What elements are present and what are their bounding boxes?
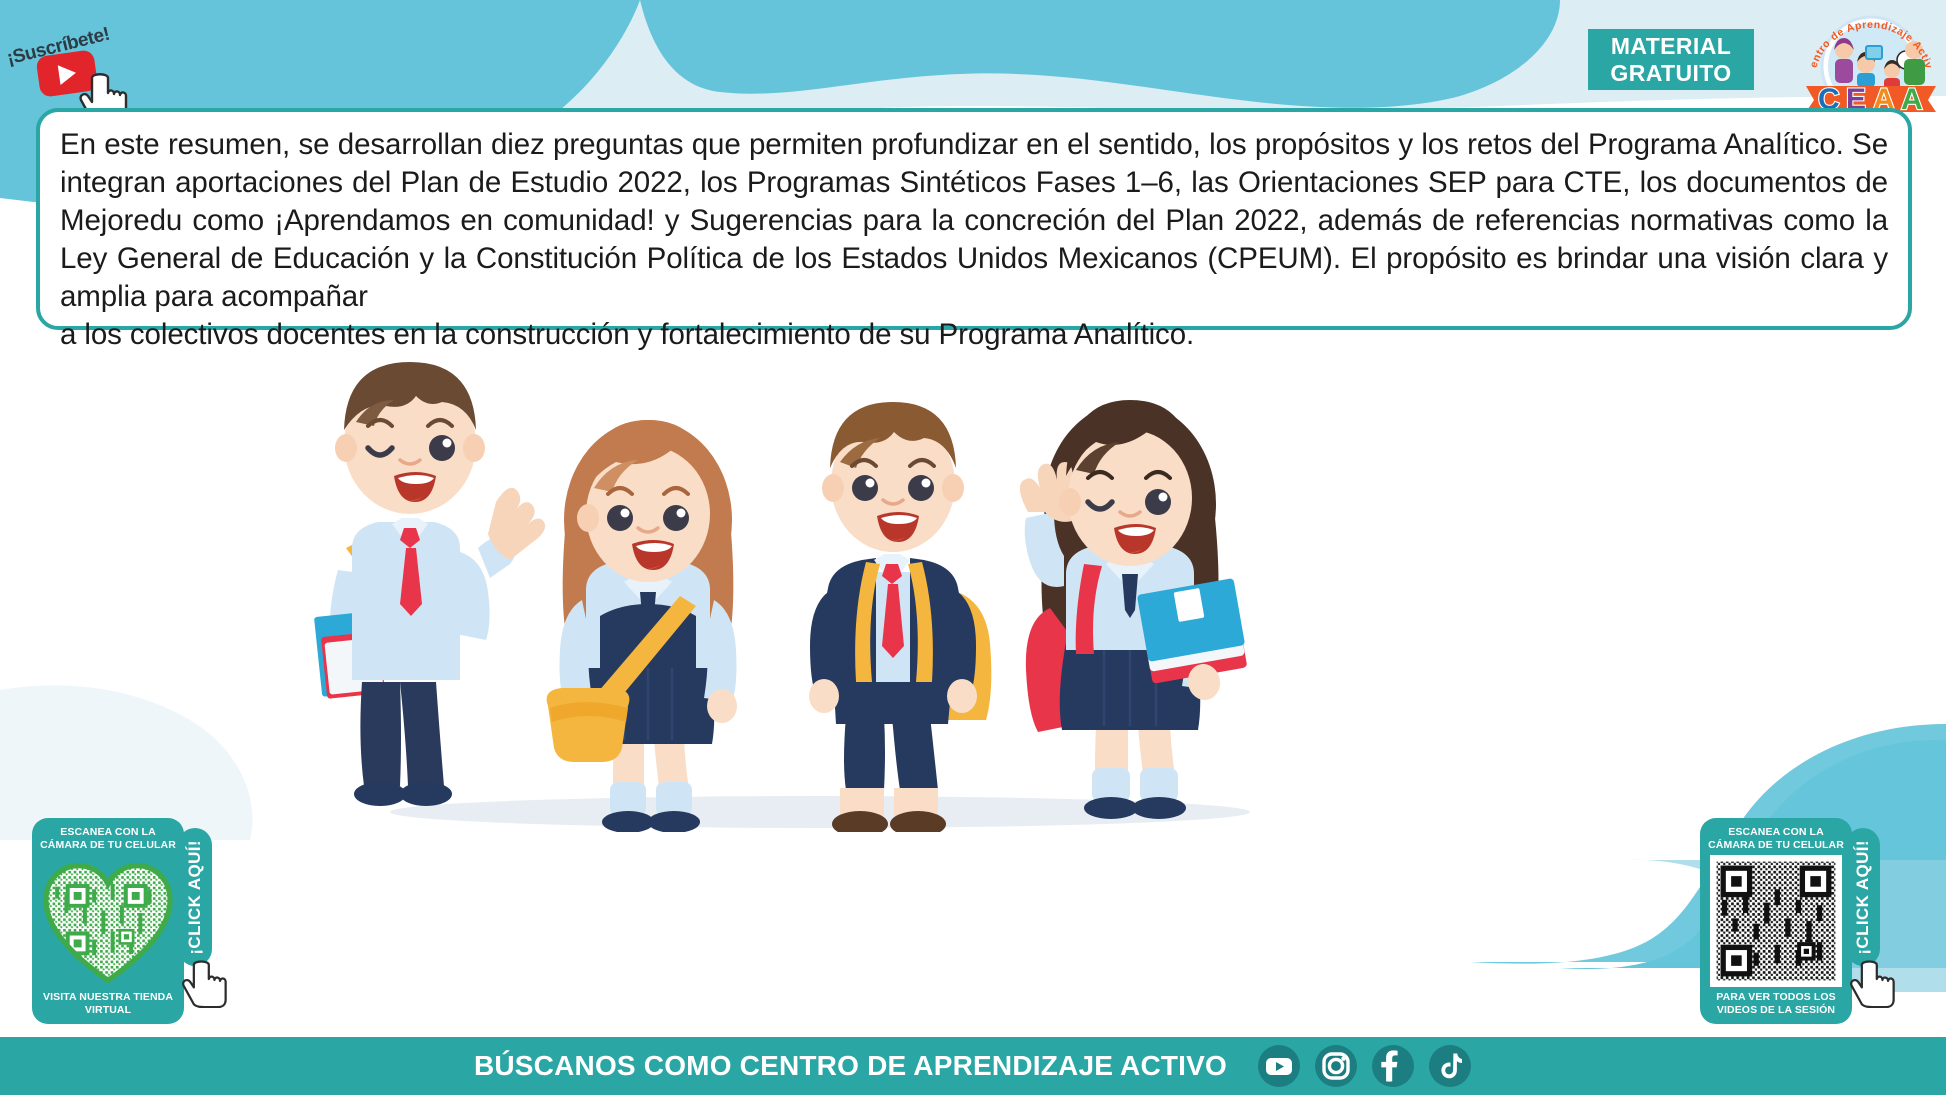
qr-left-footer: VISITA NUESTRA TIENDA VIRTUAL bbox=[43, 991, 173, 1016]
material-badge-line2: GRATUITO bbox=[1610, 60, 1731, 87]
click-here-tab-right[interactable]: ¡CLICK AQUÍ! bbox=[1846, 828, 1880, 966]
qr-right-footer-line1: PARA VER TODOS LOS bbox=[1716, 991, 1835, 1003]
tiktok-icon[interactable] bbox=[1428, 1044, 1472, 1088]
summary-text-card: En este resumen, se desarrollan diez pre… bbox=[36, 108, 1912, 330]
student-girl-waving bbox=[1020, 400, 1248, 819]
material-badge-line1: MATERIAL bbox=[1611, 33, 1731, 60]
students-graphic bbox=[300, 352, 1340, 832]
facebook-icon[interactable] bbox=[1371, 1044, 1415, 1088]
summary-paragraph-last: a los colectivos docentes en la construc… bbox=[60, 316, 1888, 354]
instagram-icon[interactable] bbox=[1314, 1044, 1358, 1088]
social-links bbox=[1257, 1044, 1472, 1088]
student-girl-pinafore bbox=[547, 420, 737, 832]
poster-canvas: ¡Suscríbete! MATERIAL GRATUITO bbox=[0, 0, 1946, 1095]
student-boy-waving bbox=[314, 362, 545, 806]
qr-card-videos-sesion[interactable]: ESCANEA CON LA CÁMARA DE TU CELULAR bbox=[1700, 818, 1852, 1024]
ceaa-logo: Centro de Aprendizaje Activo C E A A bbox=[1800, 8, 1942, 112]
four-school-children-illustration bbox=[300, 352, 1340, 832]
click-here-label-left: ¡CLICK AQUÍ! bbox=[185, 840, 205, 955]
qr-left-footer-line1: VISITA NUESTRA TIENDA bbox=[43, 991, 173, 1003]
hand-pointer-cursor-left bbox=[178, 950, 234, 1008]
summary-paragraph: En este resumen, se desarrollan diez pre… bbox=[60, 126, 1888, 316]
qr-right-footer: PARA VER TODOS LOS VIDEOS DE LA SESIÓN bbox=[1716, 991, 1835, 1016]
footer-bar: BÚSCANOS COMO CENTRO DE APRENDIZAJE ACTI… bbox=[0, 1037, 1946, 1095]
student-boy-blazer bbox=[809, 402, 991, 832]
qr-left-header-line2: CÁMARA DE TU CELULAR bbox=[40, 839, 176, 851]
qr-left-header: ESCANEA CON LA CÁMARA DE TU CELULAR bbox=[40, 826, 176, 851]
qr-right-footer-line2: VIDEOS DE LA SESIÓN bbox=[1717, 1004, 1835, 1016]
material-gratuito-badge: MATERIAL GRATUITO bbox=[1588, 29, 1754, 90]
qr-left-header-line1: ESCANEA CON LA bbox=[60, 826, 156, 838]
qr-card-tienda-virtual[interactable]: ESCANEA CON LA CÁMARA DE TU CELULAR bbox=[32, 818, 184, 1024]
qr-left-footer-line2: VIRTUAL bbox=[85, 1004, 131, 1016]
click-here-label-right: ¡CLICK AQUÍ! bbox=[1853, 840, 1873, 955]
ceaa-logo-graphic: Centro de Aprendizaje Activo C E A A bbox=[1800, 8, 1942, 112]
qr-right-header-line1: ESCANEA CON LA bbox=[1728, 826, 1824, 838]
logo-letter-a2: A bbox=[1901, 83, 1923, 112]
qr-code-square-icon[interactable] bbox=[1710, 855, 1842, 987]
qr-code-heart-icon[interactable] bbox=[42, 855, 174, 987]
footer-label: BÚSCANOS COMO CENTRO DE APRENDIZAJE ACTI… bbox=[474, 1050, 1227, 1082]
hand-pointer-cursor-right bbox=[1846, 950, 1902, 1008]
youtube-icon[interactable] bbox=[1257, 1044, 1301, 1088]
qr-right-header: ESCANEA CON LA CÁMARA DE TU CELULAR bbox=[1708, 826, 1844, 851]
qr-right-header-line2: CÁMARA DE TU CELULAR bbox=[1708, 839, 1844, 851]
subscribe-cta[interactable]: ¡Suscríbete! bbox=[4, 18, 154, 108]
click-here-tab-left[interactable]: ¡CLICK AQUÍ! bbox=[178, 828, 212, 966]
